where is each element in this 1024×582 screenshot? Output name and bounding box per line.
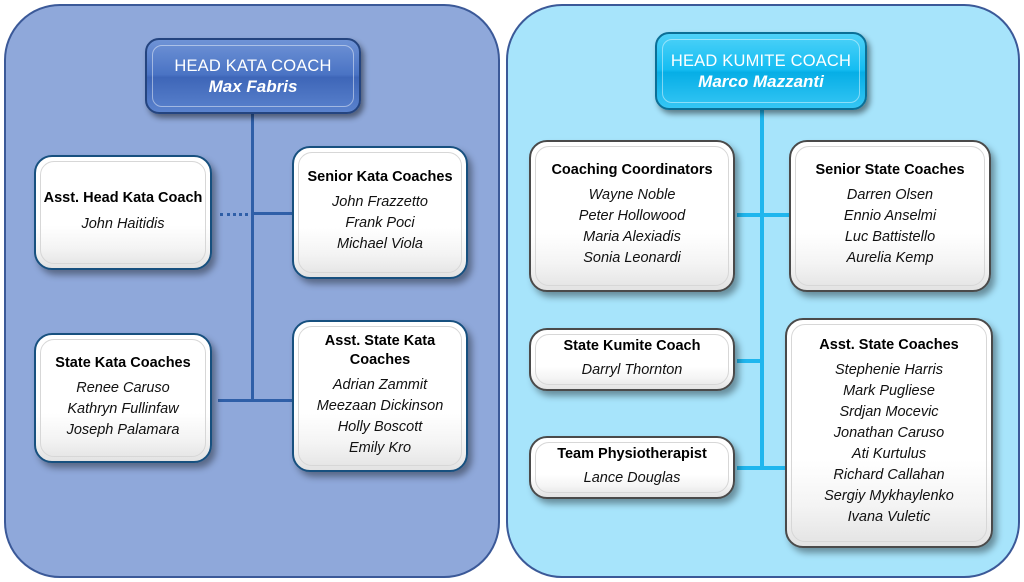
person-name: Mark Pugliese: [793, 381, 985, 402]
asst-head-kata-coach-title: Asst. Head Kata Coach: [42, 189, 204, 208]
head-kata-coach-box[interactable]: HEAD KATA COACH Max Fabris: [145, 38, 361, 114]
person-name: Meezaan Dickinson: [300, 396, 460, 417]
person-name: Srdjan Mocevic: [793, 402, 985, 423]
kata-connector-to-state: [218, 399, 254, 402]
asst-state-kata-coaches-box[interactable]: Asst. State Kata Coaches Adrian Zammit M…: [292, 320, 468, 472]
team-physiotherapist-title: Team Physiotherapist: [537, 445, 727, 464]
person-name: Wayne Noble: [537, 185, 727, 206]
person-name: Adrian Zammit: [300, 375, 460, 396]
state-kata-coaches-title: State Kata Coaches: [42, 354, 204, 373]
coaching-coordinators-title: Coaching Coordinators: [537, 161, 727, 180]
person-name: Sonia Leonardi: [537, 248, 727, 269]
asst-head-kata-coach-box[interactable]: Asst. Head Kata Coach John Haitidis: [34, 155, 212, 270]
person-name: Richard Callahan: [793, 465, 985, 486]
asst-state-kata-coaches-title: Asst. State Kata Coaches: [300, 332, 460, 370]
person-name: Luc Battistello: [797, 227, 983, 248]
kata-connector-dotted-asst-head: [220, 213, 254, 216]
state-kumite-coach-box[interactable]: State Kumite Coach Darryl Thornton: [529, 328, 735, 391]
head-kata-coach-role: HEAD KATA COACH: [174, 56, 331, 76]
state-kumite-coach-title: State Kumite Coach: [537, 337, 727, 356]
head-kumite-coach-name: Marco Mazzanti: [698, 71, 824, 92]
kumite-connector-spine: [760, 108, 764, 470]
kata-connector-to-asst-state: [251, 399, 296, 402]
person-name: Michael Viola: [300, 234, 460, 255]
coaching-coordinators-names: Wayne Noble Peter Hollowood Maria Alexia…: [537, 185, 727, 269]
state-kumite-coach-names: Darryl Thornton: [537, 359, 727, 381]
person-name: Sergiy Mykhaylenko: [793, 486, 985, 507]
kata-connector-to-senior: [251, 212, 296, 215]
person-name: Ivana Vuletic: [793, 507, 985, 528]
team-physiotherapist-names: Lance Douglas: [537, 467, 727, 489]
senior-kata-coaches-box[interactable]: Senior Kata Coaches John Frazzetto Frank…: [292, 146, 468, 279]
person-name: Aurelia Kemp: [797, 248, 983, 269]
state-kata-coaches-names: Renee Caruso Kathryn Fullinfaw Joseph Pa…: [42, 378, 204, 441]
person-name: Frank Poci: [300, 213, 460, 234]
org-chart-canvas: HEAD KATA COACH Max Fabris Asst. Head Ka…: [0, 0, 1024, 582]
senior-kata-coaches-title: Senior Kata Coaches: [300, 168, 460, 187]
senior-state-coaches-title: Senior State Coaches: [797, 161, 983, 180]
senior-state-coaches-names: Darren Olsen Ennio Anselmi Luc Battistel…: [797, 185, 983, 269]
head-kumite-coach-box[interactable]: HEAD KUMITE COACH Marco Mazzanti: [655, 32, 867, 110]
person-name: John Haitidis: [42, 213, 204, 235]
senior-kata-coaches-names: John Frazzetto Frank Poci Michael Viola: [300, 192, 460, 255]
person-name: Ati Kurtulus: [793, 444, 985, 465]
kata-connector-spine: [251, 112, 254, 402]
asst-state-coaches-box[interactable]: Asst. State Coaches Stephenie Harris Mar…: [785, 318, 993, 548]
person-name: Darren Olsen: [797, 185, 983, 206]
kumite-connector-to-state-kumite: [737, 359, 764, 363]
coaching-coordinators-box[interactable]: Coaching Coordinators Wayne Noble Peter …: [529, 140, 735, 292]
team-physiotherapist-box[interactable]: Team Physiotherapist Lance Douglas: [529, 436, 735, 499]
person-name: John Frazzetto: [300, 192, 460, 213]
head-kata-coach-name: Max Fabris: [209, 76, 298, 97]
person-name: Holly Boscott: [300, 417, 460, 438]
asst-state-coaches-names: Stephenie Harris Mark Pugliese Srdjan Mo…: [793, 360, 985, 528]
person-name: Lance Douglas: [537, 467, 727, 489]
person-name: Jonathan Caruso: [793, 423, 985, 444]
person-name: Kathryn Fullinfaw: [42, 399, 204, 420]
person-name: Ennio Anselmi: [797, 206, 983, 227]
person-name: Renee Caruso: [42, 378, 204, 399]
person-name: Darryl Thornton: [537, 359, 727, 381]
kumite-connector-to-senior-state: [760, 213, 790, 217]
senior-state-coaches-box[interactable]: Senior State Coaches Darren Olsen Ennio …: [789, 140, 991, 292]
head-kumite-coach-role: HEAD KUMITE COACH: [671, 51, 851, 71]
person-name: Stephenie Harris: [793, 360, 985, 381]
asst-state-kata-coaches-names: Adrian Zammit Meezaan Dickinson Holly Bo…: [300, 375, 460, 459]
asst-state-coaches-title: Asst. State Coaches: [793, 336, 985, 355]
person-name: Emily Kro: [300, 438, 460, 459]
person-name: Peter Hollowood: [537, 206, 727, 227]
state-kata-coaches-box[interactable]: State Kata Coaches Renee Caruso Kathryn …: [34, 333, 212, 463]
asst-head-kata-coach-names: John Haitidis: [42, 213, 204, 235]
person-name: Joseph Palamara: [42, 420, 204, 441]
person-name: Maria Alexiadis: [537, 227, 727, 248]
